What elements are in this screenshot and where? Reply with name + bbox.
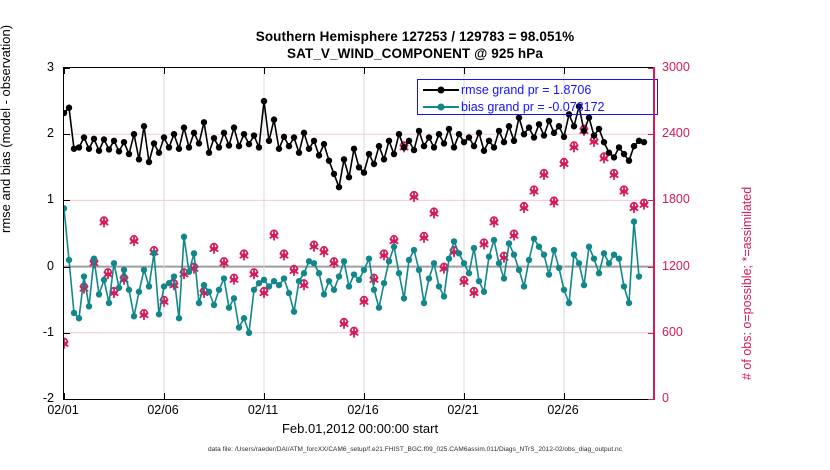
legend-label-rmse: rmse grand pr = 1.8706	[461, 83, 591, 97]
legend-swatch-rmse	[421, 83, 461, 97]
legend[interactable]: rmse grand pr = 1.8706 bias grand pr = -…	[417, 79, 658, 115]
legend-swatch-bias	[421, 100, 461, 114]
x-tick-label: 02/11	[248, 403, 278, 417]
y-tick-label-left: 0	[47, 259, 54, 273]
x-tick-label: 02/01	[47, 403, 78, 417]
title-line-2: SAT_V_WIND_COMPONENT @ 925 hPa	[0, 45, 830, 62]
x-tick	[464, 68, 465, 74]
x-tick	[164, 393, 165, 399]
y-tick-left	[64, 333, 70, 334]
y-axis-right-title: # of obs: o=possible; *=assimilated	[740, 187, 754, 380]
y-tick-left	[64, 134, 70, 135]
y-tick-label-left: -2	[43, 391, 54, 405]
y-axis-left-title: rmse and bias (model - observation)	[0, 25, 13, 233]
x-tick	[564, 393, 565, 399]
legend-item-bias[interactable]: bias grand pr = -0.078172	[421, 98, 653, 115]
y-tick-label-right: 1200	[662, 259, 690, 273]
x-tick	[264, 68, 265, 74]
x-tick-label: 02/06	[147, 403, 178, 417]
y-tick-label-left: 1	[47, 192, 54, 206]
x-tick	[464, 393, 465, 399]
y-tick-label-right: 600	[662, 325, 683, 339]
x-tick	[364, 393, 365, 399]
right-axis-spine	[653, 67, 655, 400]
legend-label-bias: bias grand pr = -0.078172	[461, 100, 605, 114]
y-tick-label-right: 3000	[662, 60, 690, 74]
x-tick	[164, 68, 165, 74]
y-tick-left	[64, 68, 70, 69]
legend-item-rmse[interactable]: rmse grand pr = 1.8706	[421, 81, 653, 98]
x-tick	[264, 393, 265, 399]
y-tick-left	[64, 200, 70, 201]
x-tick-label: 02/26	[547, 403, 578, 417]
x-tick-label: 02/21	[447, 403, 478, 417]
y-tick-left	[64, 399, 70, 400]
title-line-1: Southern Hemisphere 127253 / 129783 = 98…	[0, 28, 830, 45]
data-file-footer: data file: /Users/raeder/DAI/ATM_forcXX/…	[0, 446, 830, 453]
page-title: Southern Hemisphere 127253 / 129783 = 98…	[0, 28, 830, 62]
y-tick-label-left: 2	[47, 126, 54, 140]
x-tick	[364, 68, 365, 74]
x-axis-title: Feb.01,2012 00:00:00 start	[0, 421, 720, 436]
plot-area	[63, 67, 655, 400]
y-tick-label-right: 2400	[662, 126, 690, 140]
figure-canvas: Southern Hemisphere 127253 / 129783 = 98…	[0, 0, 830, 470]
x-tick	[564, 68, 565, 74]
y-tick-label-left: -1	[43, 325, 54, 339]
plot-svg	[64, 68, 654, 399]
y-tick-label-right: 1800	[662, 192, 690, 206]
y-tick-left	[64, 267, 70, 268]
y-tick-label-left: 3	[47, 60, 54, 74]
x-tick-label: 02/16	[347, 403, 378, 417]
y-tick-label-right: 0	[662, 391, 669, 405]
